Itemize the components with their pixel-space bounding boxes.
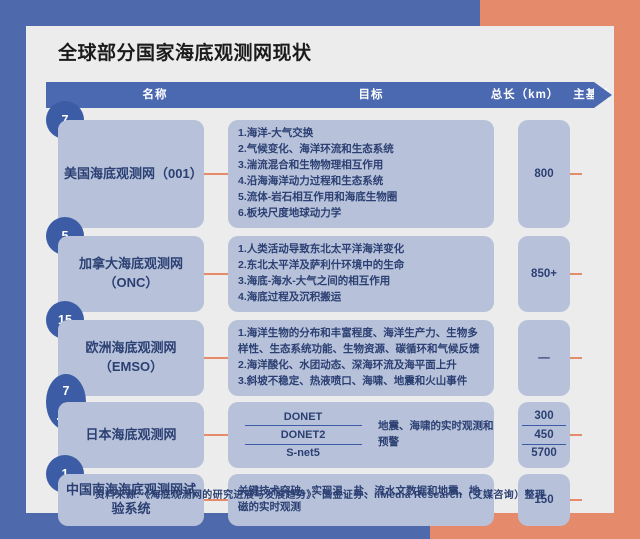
connector-line bbox=[570, 173, 582, 175]
table-header-bar: 名称 目标 总长（km） 主基站 bbox=[46, 82, 594, 108]
length-item: 300 bbox=[522, 407, 567, 425]
content-panel: 全球部分国家海底观测网现状 名称 目标 总长（km） 主基站 美国海底观测网（0… bbox=[26, 26, 614, 513]
goal-note: 地震、海啸的实时观测和预警 bbox=[378, 419, 494, 451]
table-row: 欧洲海底观测网（EMSO） 1.海洋生物的分布和丰富程度、海洋生产力、生物多样性… bbox=[46, 320, 614, 396]
goal-item: 3.斜坡不稳定、热液喷口、海啸、地震和火山事件 bbox=[238, 374, 484, 390]
goal-item: 1.人类活动导致东北太平洋海洋变化 bbox=[238, 242, 404, 258]
column-header-base: 主基站 bbox=[562, 82, 622, 108]
column-header-name: 名称 bbox=[60, 82, 250, 108]
row-name-cell: 日本海底观测网 bbox=[58, 402, 204, 468]
column-header-goal: 目标 bbox=[256, 82, 486, 108]
goal-item: 3.湍流混合和生物物理相互作用 bbox=[238, 158, 397, 174]
connector-line bbox=[570, 273, 582, 275]
goal-item: 6.板块尺度地球动力学 bbox=[238, 206, 397, 222]
row-length-cell: 800 bbox=[518, 120, 570, 228]
row-name-cell: 加拿大海底观测网（ONC） bbox=[58, 236, 204, 312]
row-goal-cell: DONET DONET2 S-net5 地震、海啸的实时观测和预警 bbox=[228, 402, 494, 468]
decor-bar-top-left bbox=[0, 0, 480, 26]
goal-item: 2.海洋酸化、水团动态、深海环流及海平面上升 bbox=[238, 358, 484, 374]
row-goal-cell: 1.海洋-大气交换 2.气候变化、海洋环流和生态系统 3.湍流混合和生物物理相互… bbox=[228, 120, 494, 228]
subsystem-stack: DONET DONET2 S-net5 bbox=[228, 402, 378, 468]
decor-bar-left bbox=[0, 0, 26, 539]
column-header-length: 总长（km） bbox=[486, 82, 564, 108]
goal-item: 1.海洋-大气交换 bbox=[238, 126, 397, 142]
connector-line bbox=[204, 357, 228, 359]
goal-item: 2.东北太平洋及萨利什环境中的生命 bbox=[238, 258, 404, 274]
table-row: 加拿大海底观测网（ONC） 1.人类活动导致东北太平洋海洋变化 2.东北太平洋及… bbox=[46, 236, 614, 312]
connector-line bbox=[204, 434, 228, 436]
source-footnote: 资料来源:《海底观测网的研究进展与发展趋势》、国金证券、iiMedia Rese… bbox=[26, 486, 614, 501]
goal-item: 4.沿海海洋动力过程和生态系统 bbox=[238, 174, 397, 190]
goal-item: 4.海底过程及沉积搬运 bbox=[238, 290, 404, 306]
row-length-cell: — bbox=[518, 320, 570, 396]
subsystem-item: DONET2 bbox=[245, 425, 362, 443]
goal-item: 2.气候变化、海洋环流和生态系统 bbox=[238, 142, 397, 158]
row-goal-cell: 1.人类活动导致东北太平洋海洋变化 2.东北太平洋及萨利什环境中的生命 3.海底… bbox=[228, 236, 494, 312]
base-item: 7 bbox=[63, 384, 70, 398]
infographic-canvas: 全球部分国家海底观测网现状 名称 目标 总长（km） 主基站 美国海底观测网（0… bbox=[0, 0, 640, 539]
goal-item: 1.海洋生物的分布和丰富程度、海洋生产力、生物多样性、生态系统功能、生物资源、碳… bbox=[238, 326, 484, 358]
page-title: 全球部分国家海底观测网现状 bbox=[58, 38, 312, 65]
connector-line bbox=[570, 357, 582, 359]
row-length-cell: 850+ bbox=[518, 236, 570, 312]
table-row: 日本海底观测网 DONET DONET2 S-net5 地震、海啸的实时观测和预… bbox=[46, 402, 614, 468]
header-arrow-icon bbox=[594, 82, 612, 108]
connector-line bbox=[204, 173, 228, 175]
connector-line bbox=[204, 273, 228, 275]
goal-item: 5.流体-岩石相互作用和海底生物圈 bbox=[238, 190, 397, 206]
subsystem-item: S-net5 bbox=[245, 444, 362, 462]
connector-line bbox=[570, 434, 582, 436]
subsystem-item: DONET bbox=[245, 408, 362, 425]
row-goal-cell: 1.海洋生物的分布和丰富程度、海洋生产力、生物多样性、生态系统功能、生物资源、碳… bbox=[228, 320, 494, 396]
table-row: 美国海底观测网（001） 1.海洋-大气交换 2.气候变化、海洋环流和生态系统 … bbox=[46, 120, 614, 228]
length-item: 5700 bbox=[522, 444, 567, 463]
row-name-cell: 美国海底观测网（001） bbox=[58, 120, 204, 228]
length-item: 450 bbox=[522, 425, 567, 444]
row-length-cell: 300 450 5700 bbox=[518, 402, 570, 468]
decor-bar-right bbox=[614, 0, 640, 539]
goal-item: 3.海底-海水-大气之间的相互作用 bbox=[238, 274, 404, 290]
